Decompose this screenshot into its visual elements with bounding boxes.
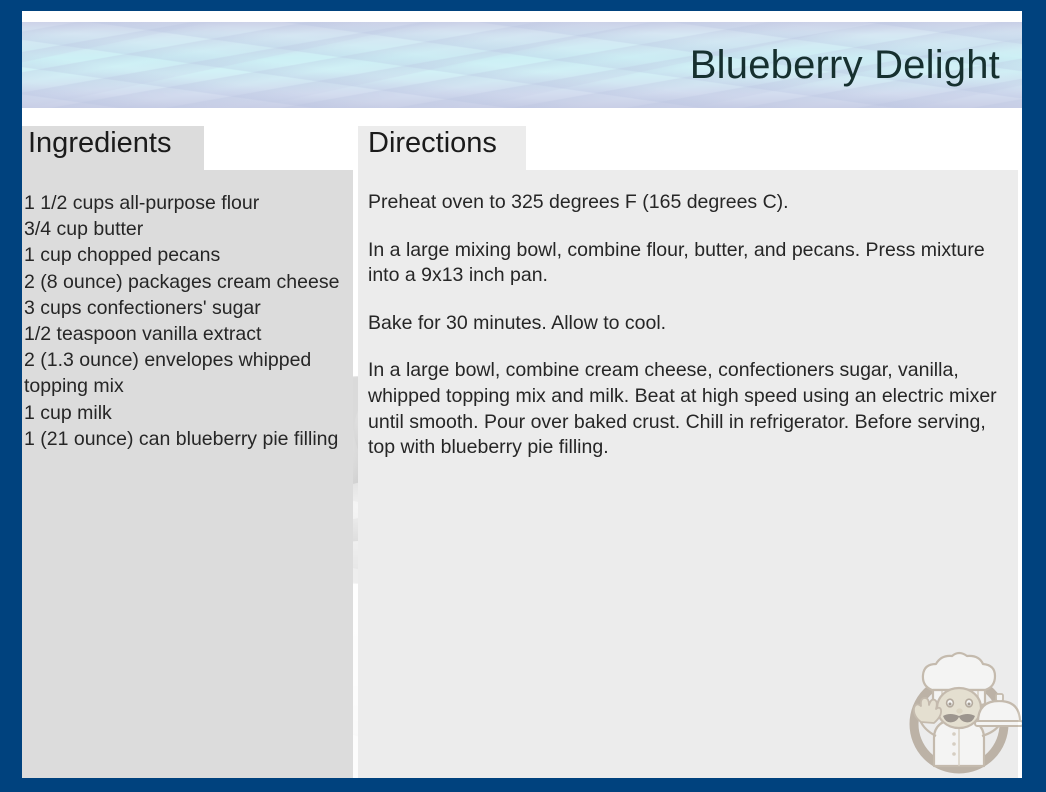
border-right <box>1022 0 1046 792</box>
directions-list: Preheat oven to 325 degrees F (165 degre… <box>368 190 1006 461</box>
recipe-card: Blueberry Delight Ingredients 1 1/2 cups… <box>0 0 1046 792</box>
border-bottom <box>0 778 1046 792</box>
list-item: 1/2 teaspoon vanilla extract <box>24 321 346 347</box>
directions-heading: Directions <box>368 127 497 160</box>
list-item: 1 cup milk <box>24 400 346 426</box>
direction-step: In a large bowl, combine cream cheese, c… <box>368 358 1006 460</box>
direction-step: Bake for 30 minutes. Allow to cool. <box>368 311 1006 337</box>
list-item: 1 cup chopped pecans <box>24 242 346 268</box>
directions-section: Directions Preheat oven to 325 degrees F… <box>358 126 1018 778</box>
border-top <box>0 0 1046 11</box>
list-item: 1 (21 ounce) can blueberry pie filling <box>24 426 346 452</box>
border-left <box>0 0 22 792</box>
direction-step: Preheat oven to 325 degrees F (165 degre… <box>368 190 1006 216</box>
list-item: 2 (8 ounce) packages cream cheese <box>24 269 346 295</box>
ingredients-list: 1 1/2 cups all-purpose flour 3/4 cup but… <box>24 190 346 452</box>
page-title: Blueberry Delight <box>690 43 1022 88</box>
list-item: 2 (1.3 ounce) envelopes whipped topping … <box>24 347 346 399</box>
list-item: 3 cups confectioners' sugar <box>24 295 346 321</box>
ingredients-heading: Ingredients <box>28 127 172 160</box>
title-banner: Blueberry Delight <box>22 22 1022 108</box>
ingredients-section: Ingredients 1 1/2 cups all-purpose flour… <box>22 126 353 778</box>
list-item: 1 1/2 cups all-purpose flour <box>24 190 346 216</box>
direction-step: In a large mixing bowl, combine flour, b… <box>368 238 1006 289</box>
list-item: 3/4 cup butter <box>24 216 346 242</box>
